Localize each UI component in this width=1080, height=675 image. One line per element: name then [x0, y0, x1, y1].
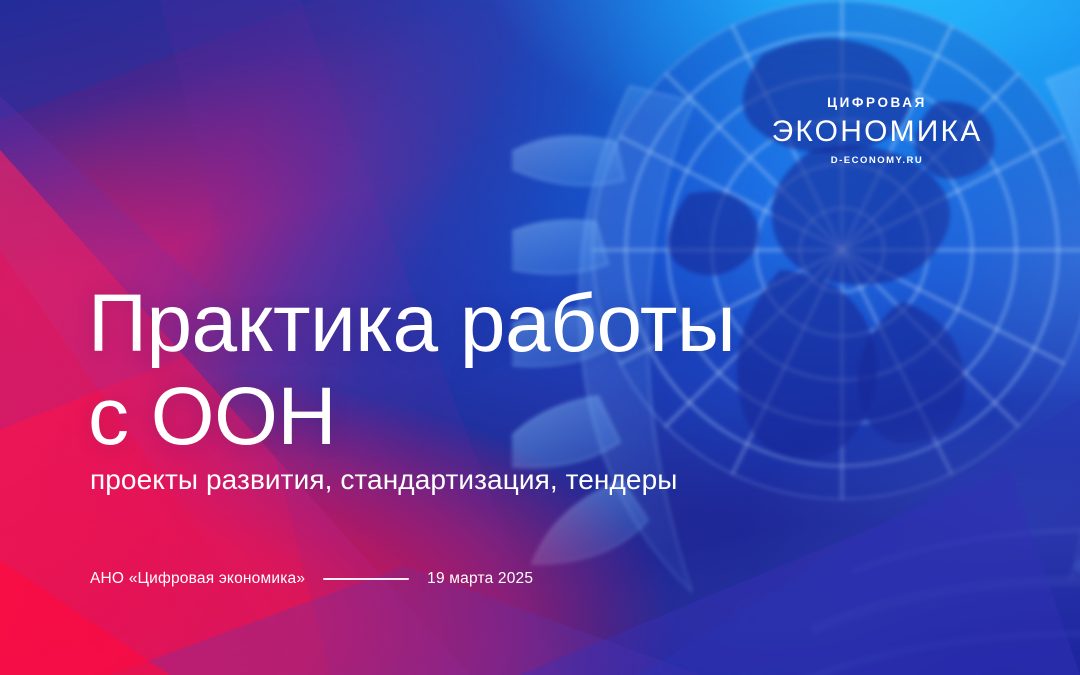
footer-divider [323, 578, 409, 580]
logo-url: D-ECONOMY.RU [762, 156, 992, 166]
presentation-slide: ЦИФРОВАЯ ЭКОНОМИКА D-ECONOMY.RU Практика… [0, 0, 1080, 675]
slide-footer: АНО «Цифровая экономика» 19 марта 2025 [90, 570, 533, 588]
slide-title: Практика работы с ООН [88, 277, 735, 464]
logo-kicker: ЦИФРОВАЯ [762, 96, 992, 110]
slide-subtitle: проекты развития, стандартизация, тендер… [90, 463, 677, 497]
brand-logo: ЦИФРОВАЯ ЭКОНОМИКА D-ECONOMY.RU [762, 96, 992, 165]
footer-date: 19 марта 2025 [427, 570, 533, 588]
footer-organization: АНО «Цифровая экономика» [90, 570, 305, 588]
logo-wordmark: ЭКОНОМИКА [762, 117, 992, 147]
